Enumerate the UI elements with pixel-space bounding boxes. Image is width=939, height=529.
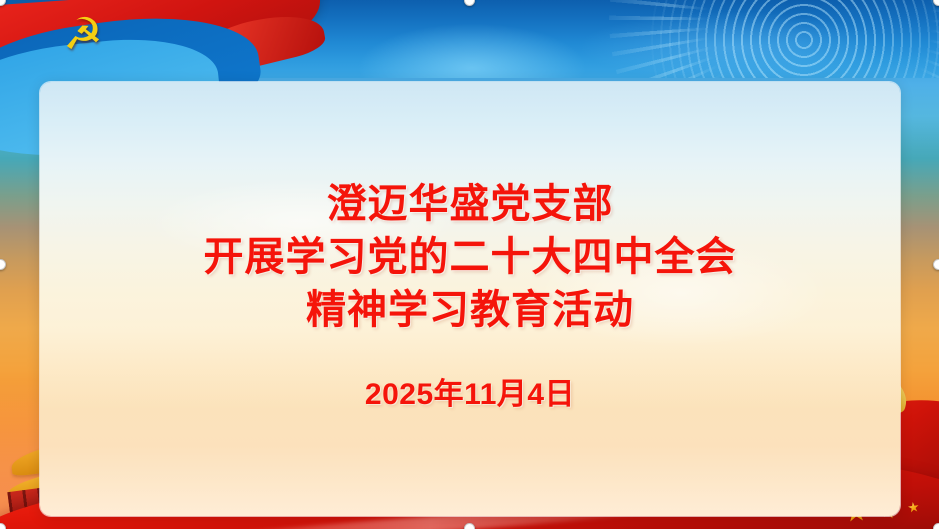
- slide-date: 2025年11月4日: [40, 376, 900, 414]
- title-line-2: 开展学习党的二十大四中全会: [40, 231, 900, 284]
- great-hall-dome-dots-icon: [639, 0, 939, 78]
- panel-warm-haze: [40, 316, 900, 516]
- content-panel: 澄迈华盛党支部 开展学习党的二十大四中全会 精神学习教育活动 2025年11月4…: [40, 82, 900, 516]
- resize-handle-bottom-right[interactable]: [933, 523, 939, 529]
- slide-title: 澄迈华盛党支部 开展学习党的二十大四中全会 精神学习教育活动: [40, 178, 900, 337]
- resize-handle-middle-left[interactable]: [0, 259, 6, 270]
- title-line-1: 澄迈华盛党支部: [40, 178, 900, 231]
- resize-handle-bottom-center[interactable]: [464, 523, 475, 529]
- resize-handle-middle-right[interactable]: [933, 259, 939, 270]
- title-line-3: 精神学习教育活动: [40, 284, 900, 337]
- banner-glow: [357, 23, 587, 78]
- presentation-slide: ☭ 中华人民共和国万岁 世界人民大团结万岁 澄迈华盛: [0, 0, 939, 529]
- hammer-and-sickle-icon: ☭: [52, 10, 114, 60]
